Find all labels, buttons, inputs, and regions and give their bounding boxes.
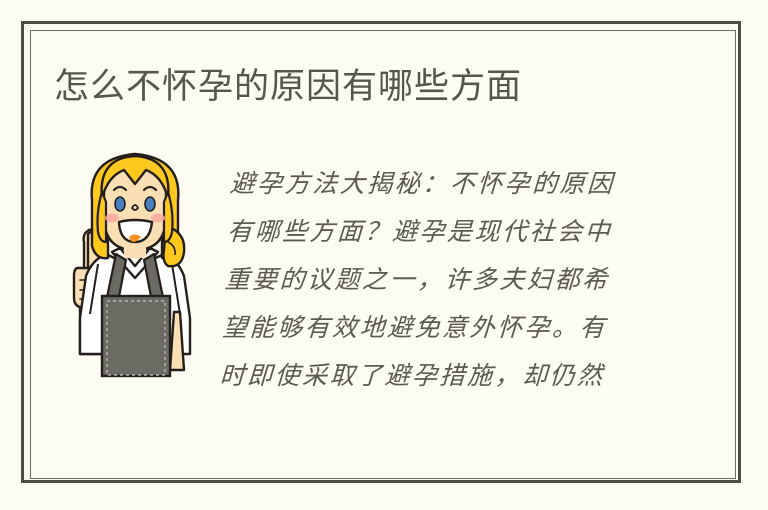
article-line: 望能够有效地避免意外怀孕。有 [221,304,644,352]
article-body-text: 避孕方法大揭秘：不怀孕的原因 有哪些方面？避孕是现代社会中 重要的议题之一，许多… [218,160,651,400]
page-root: 怎么不怀孕的原因有哪些方面 [0,0,768,510]
page-title: 怎么不怀孕的原因有哪些方面 [54,64,522,110]
article-line: 有哪些方面？避孕是现代社会中 [226,208,649,256]
apron-body [102,296,170,376]
article-line: 重要的议题之一，许多夫妇都希 [223,256,646,304]
face-group [98,156,173,250]
illustration-cartoon-woman [62,142,208,380]
article-line: 避孕方法大揭秘：不怀孕的原因 [228,160,651,208]
article-line: 时即使采取了避孕措施，却仍然 [218,352,641,400]
